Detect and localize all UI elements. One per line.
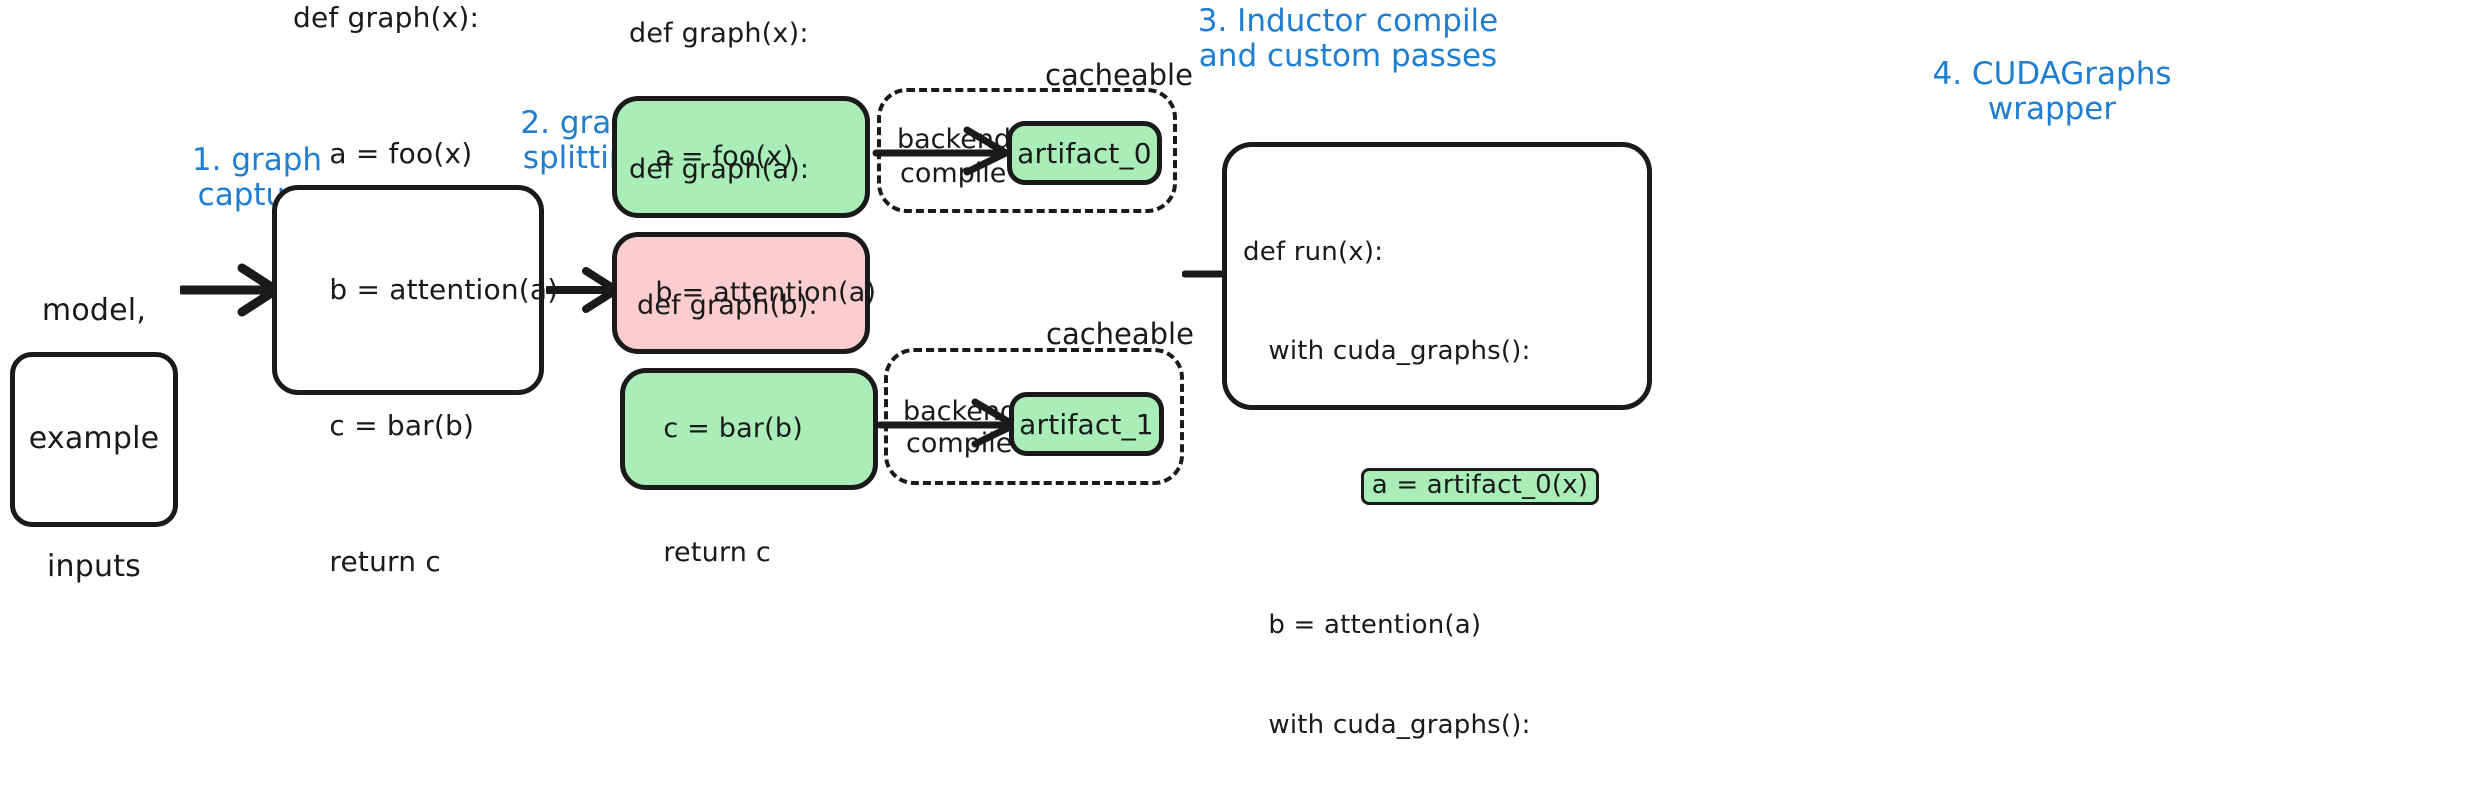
node-artifact-1[interactable]: artifact_1 <box>1009 392 1164 456</box>
captured-graph-line-2: a = foo(x) <box>293 131 539 176</box>
input-line-1: model, <box>29 290 160 333</box>
split-attention-line-1: def graph(a): <box>629 149 865 190</box>
node-split-graph-bar[interactable]: def graph(b): c = bar(b) return c <box>620 368 878 490</box>
captured-graph-line-3: b = attention(a) <box>293 267 539 312</box>
runtime-line-attention: b = attention(a) <box>1243 609 1647 642</box>
captured-graph-line-1: def graph(x): <box>293 0 539 41</box>
cacheable-label-top: cacheable <box>1045 58 1193 92</box>
input-line-2: example <box>29 418 160 461</box>
artifact-0-label: artifact_0 <box>1017 137 1152 170</box>
split-foo-line-1: def graph(x): <box>629 13 865 54</box>
input-line-3: inputs <box>29 546 160 589</box>
node-cudagraphs-runtime-wrapper[interactable]: def run(x): with cuda_graphs(): a = arti… <box>1222 142 1652 410</box>
node-captured-graph[interactable]: def graph(x): a = foo(x) b = attention(a… <box>272 185 544 395</box>
cacheable-label-bottom: cacheable <box>1046 317 1194 351</box>
split-bar-line-3: return c <box>637 532 873 573</box>
arrow-backend-compile-top <box>872 120 1012 180</box>
captured-graph-line-4: c = bar(b) <box>293 403 539 448</box>
captured-graph-line-5: return c <box>293 539 539 584</box>
node-model-example-inputs[interactable]: model, example inputs <box>10 352 178 527</box>
step-label-4-cudagraphs-wrapper: 4. CUDAGraphs wrapper <box>1872 57 2232 126</box>
arrow-backend-compile-bottom <box>876 392 1022 452</box>
runtime-line-with-cuda-graphs-2: with cuda_graphs(): <box>1243 709 1647 742</box>
node-artifact-0[interactable]: artifact_0 <box>1007 121 1162 185</box>
split-bar-line-2: c = bar(b) <box>637 408 873 449</box>
split-bar-line-1: def graph(b): <box>637 285 873 326</box>
diagram-canvas: 1. graph capture 2. graph splitting 3. I… <box>0 0 2474 794</box>
runtime-line-def-run: def run(x): <box>1243 236 1647 269</box>
runtime-highlight-artifact-0-call: a = artifact_0(x) <box>1361 468 1599 505</box>
runtime-line-with-cuda-graphs-1: with cuda_graphs(): <box>1243 335 1647 368</box>
artifact-1-label: artifact_1 <box>1019 408 1154 441</box>
